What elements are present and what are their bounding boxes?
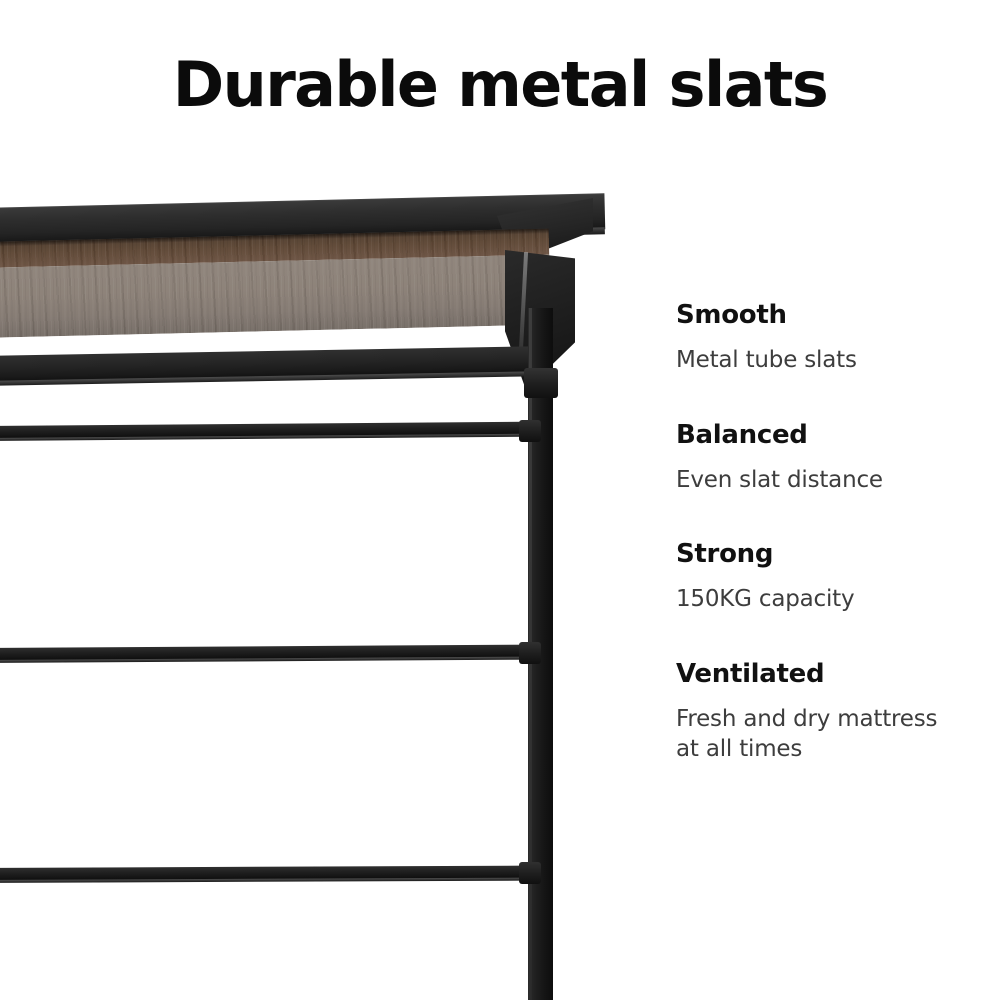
- wood-grain-texture-secondary: [0, 229, 551, 338]
- page-title: Durable metal slats: [0, 52, 1000, 117]
- feature-description: Even slat distance: [676, 465, 986, 495]
- feature-item-strong: Strong 150KG capacity: [676, 539, 986, 615]
- feature-title: Balanced: [676, 420, 986, 451]
- product-image: [0, 180, 620, 1000]
- feature-title: Ventilated: [676, 659, 986, 690]
- slat-connector-tab: [519, 420, 541, 442]
- bed-corner-bracket: [524, 368, 558, 398]
- wood-panel: [0, 229, 551, 338]
- feature-title: Smooth: [676, 300, 986, 331]
- slat-connector-tab: [519, 642, 541, 664]
- feature-list: Smooth Metal tube slats Balanced Even sl…: [676, 300, 986, 765]
- feature-item-ventilated: Ventilated Fresh and dry mattress at all…: [676, 659, 986, 765]
- feature-description: Fresh and dry mattress at all times: [676, 704, 986, 765]
- infographic-page: Durable metal slats Sm: [0, 0, 1000, 1000]
- slat-connector-tab: [519, 862, 541, 884]
- feature-description: 150KG capacity: [676, 584, 986, 614]
- feature-description: Metal tube slats: [676, 345, 986, 375]
- feature-item-balanced: Balanced Even slat distance: [676, 420, 986, 496]
- feature-title: Strong: [676, 539, 986, 570]
- feature-item-smooth: Smooth Metal tube slats: [676, 300, 986, 376]
